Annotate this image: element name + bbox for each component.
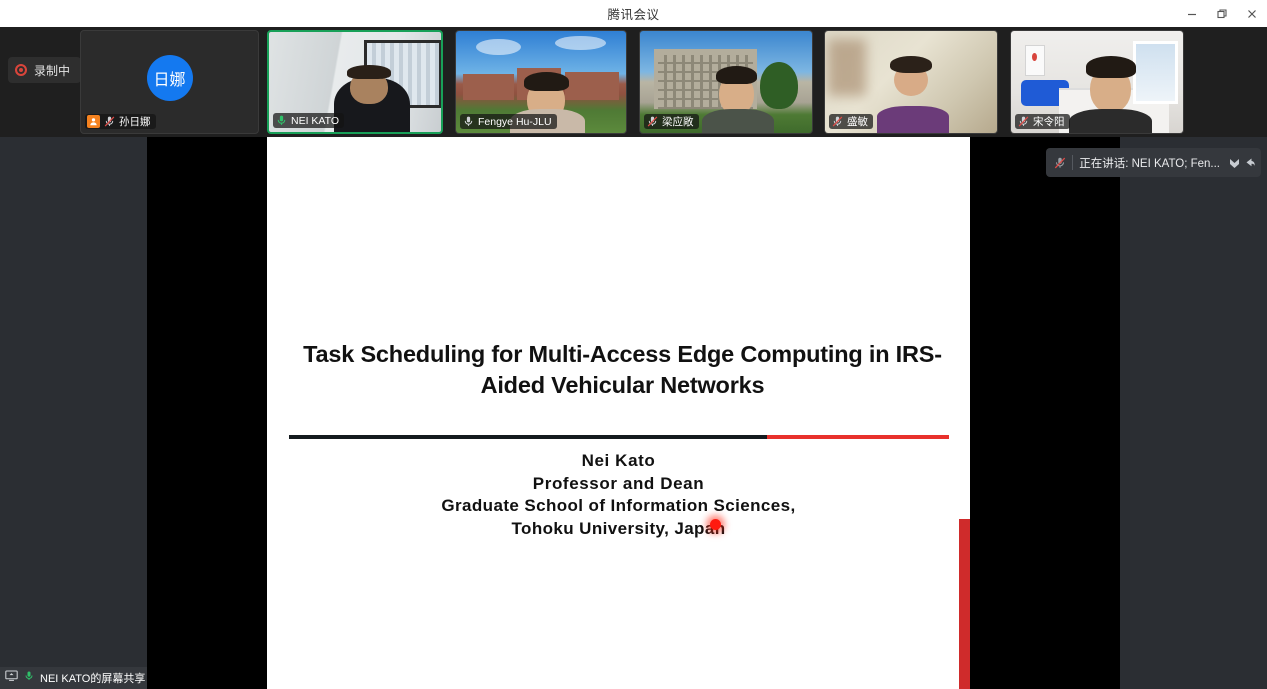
stage-left-panel	[0, 137, 147, 689]
stage-right-panel	[1120, 137, 1267, 689]
participant-name: 盛敏	[847, 114, 868, 129]
mic-muted-icon	[831, 115, 844, 128]
shared-screen-stage: Task Scheduling for Multi-Access Edge Co…	[0, 137, 1267, 689]
participant-name: NEI KATO	[291, 115, 339, 127]
slide-subtitle-block: Nei Kato Professor and Dean Graduate Sch…	[287, 450, 950, 540]
close-icon[interactable]	[1237, 0, 1267, 27]
participant-name-badge: 盛敏	[829, 114, 873, 129]
restore-arrow-icon	[1242, 155, 1257, 170]
participant-filmstrip: 录制中 日娜 孙日娜	[0, 27, 1267, 137]
toast-controls[interactable]	[1226, 155, 1257, 170]
toast-separator	[1072, 155, 1073, 170]
screen-share-icon	[5, 669, 18, 687]
participant-name: Fengye Hu-JLU	[478, 116, 552, 128]
person-head	[894, 64, 928, 97]
presenter-affiliation-line1: Graduate School of Information Sciences,	[287, 495, 950, 518]
participant-name-badge: NEI KATO	[273, 113, 344, 128]
person-body	[702, 109, 774, 133]
recording-indicator[interactable]: 录制中	[8, 57, 81, 83]
person-hair	[716, 66, 757, 85]
shared-slide: Task Scheduling for Multi-Access Edge Co…	[267, 137, 970, 689]
participant-tile-fengye-hu[interactable]: Fengye Hu-JLU	[455, 30, 627, 134]
person-hair	[1086, 56, 1136, 78]
slide-title: Task Scheduling for Multi-Access Edge Co…	[301, 339, 944, 402]
participant-name: 梁应敞	[662, 114, 694, 129]
rule-dark-segment	[289, 435, 767, 439]
avatar: 日娜	[147, 55, 193, 101]
host-icon	[87, 115, 100, 128]
presenter-role: Professor and Dean	[287, 473, 950, 496]
participant-tile-sunrina[interactable]: 日娜 孙日娜	[80, 30, 259, 134]
screen-share-label: NEI KATO的屏幕共享	[40, 670, 145, 686]
mic-muted-icon	[646, 115, 659, 128]
window-controls	[1177, 0, 1267, 27]
participant-name-badge: 梁应敞	[644, 114, 699, 129]
participant-name: 孙日娜	[119, 114, 151, 129]
mic-on-icon	[462, 115, 475, 128]
active-speaker-toast[interactable]: 正在讲话: NEI KATO; Fen...	[1046, 148, 1261, 177]
mic-on-icon	[23, 669, 35, 687]
mic-muted-icon	[1053, 156, 1066, 169]
window-titlebar: 腾讯会议	[0, 0, 1267, 27]
laser-pointer-icon	[710, 519, 721, 530]
person-head	[350, 70, 388, 104]
mic-on-icon	[275, 114, 288, 127]
participant-tile-songlingyang[interactable]: 宋令阳	[1010, 30, 1184, 134]
participant-name-badge: 孙日娜	[85, 114, 156, 129]
screen-share-status-bar: NEI KATO的屏幕共享	[0, 667, 147, 689]
minimize-icon[interactable]	[1177, 0, 1207, 27]
participant-name: 宋令阳	[1033, 114, 1065, 129]
participant-name-badge: Fengye Hu-JLU	[460, 114, 557, 129]
slide-divider-rule	[289, 435, 949, 439]
participant-tile-nei-kato[interactable]: NEI KATO	[267, 30, 443, 134]
person-body	[877, 106, 949, 133]
participant-name-badge: 宋令阳	[1015, 114, 1070, 129]
active-speaker-text: 正在讲话: NEI KATO; Fen...	[1079, 155, 1220, 171]
slide-accent-bar	[959, 519, 970, 689]
recording-label: 录制中	[34, 62, 70, 79]
mic-muted-icon	[1017, 115, 1030, 128]
chevron-collapse-icon	[1228, 155, 1241, 170]
participant-tile-shengmin[interactable]: 盛敏	[824, 30, 998, 134]
person-body	[1069, 109, 1152, 133]
person-hair	[524, 72, 569, 91]
person-head	[1090, 66, 1131, 113]
presenter-name: Nei Kato	[287, 450, 950, 473]
presenter-affiliation-line2: Tohoku University, Japan	[287, 518, 950, 541]
rule-red-segment	[767, 435, 949, 439]
window-title: 腾讯会议	[607, 4, 659, 23]
participant-tile-liangyingmin[interactable]: 梁应敞	[639, 30, 813, 134]
maximize-icon[interactable]	[1207, 0, 1237, 27]
recording-dot-icon	[15, 64, 27, 76]
mic-muted-icon	[103, 115, 116, 128]
